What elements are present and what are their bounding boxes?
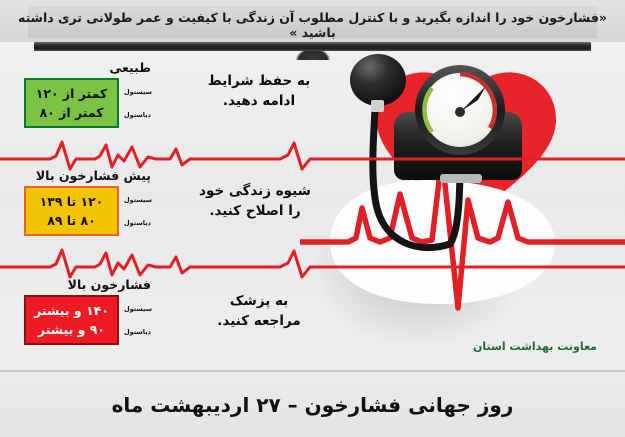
device-base-plate bbox=[440, 174, 482, 183]
advice-hypertension: به پزشک مراجعه کنید. bbox=[189, 292, 329, 331]
category-hypertension-box: ۱۴۰ و بیشتر ۹۰ و بیشتر bbox=[24, 295, 119, 345]
category-hypertension-diastolic-value: ۹۰ و بیشتر bbox=[26, 320, 117, 339]
bulb-neck bbox=[371, 100, 384, 112]
advice-normal-line2: ادامه دهید. bbox=[189, 92, 329, 112]
advice-normal: به حفظ شرایط ادامه دهید. bbox=[189, 72, 329, 111]
category-hypertension-title: فشارخون بالا bbox=[68, 277, 151, 292]
category-normal-systolic-label: سیستول bbox=[121, 88, 159, 96]
artwork-illustration bbox=[300, 52, 625, 352]
category-prehypertension-diastolic-value: ۸۰ تا ۸۹ bbox=[26, 211, 117, 230]
category-prehypertension-diastolic-label: دیاستول bbox=[121, 219, 159, 227]
category-prehypertension-title: پیش فشارخون بالا bbox=[36, 168, 151, 183]
category-hypertension: فشارخون بالا ۱۴۰ و بیشتر ۹۰ و بیشتر سیست… bbox=[0, 277, 159, 355]
category-prehypertension-box: ۱۲۰ تا ۱۳۹ ۸۰ تا ۸۹ bbox=[24, 186, 119, 236]
gauge-hub bbox=[455, 107, 465, 117]
category-normal-title: طبیعی bbox=[109, 60, 151, 75]
header-slogan: «فشارخون خود را اندازه بگیرید و با کنترل… bbox=[0, 10, 625, 40]
category-prehypertension: پیش فشارخون بالا ۱۲۰ تا ۱۳۹ ۸۰ تا ۸۹ سیس… bbox=[0, 168, 159, 246]
inflation-bulb bbox=[350, 54, 406, 106]
footer-band: روز جهانی فشارخون – ۲۷ اردیبهشت ماه bbox=[0, 372, 625, 437]
category-hypertension-systolic-label: سیستول bbox=[121, 305, 159, 313]
advice-hypertension-line2: مراجعه کنید. bbox=[189, 312, 329, 332]
category-normal-systolic-value: کمتر از ۱۲۰ bbox=[26, 84, 117, 103]
category-normal: طبیعی کمتر از ۱۲۰ کمتر از ۸۰ سیستول دیاس… bbox=[0, 60, 159, 138]
advice-hypertension-line1: به پزشک bbox=[189, 292, 329, 312]
category-hypertension-diastolic-label: دیاستول bbox=[121, 328, 159, 336]
category-prehypertension-systolic-value: ۱۲۰ تا ۱۳۹ bbox=[26, 192, 117, 211]
category-normal-diastolic-label: دیاستول bbox=[121, 111, 159, 119]
advice-prehypertension-line1: شیوه زندگی خود bbox=[181, 182, 329, 202]
category-prehypertension-systolic-label: سیستول bbox=[121, 196, 159, 204]
category-normal-box: کمتر از ۱۲۰ کمتر از ۸۰ bbox=[24, 78, 119, 128]
infographic-poster: «فشارخون خود را اندازه بگیرید و با کنترل… bbox=[0, 0, 625, 437]
organization-credit: معاونت بهداشت استان bbox=[473, 340, 597, 353]
category-hypertension-systolic-value: ۱۴۰ و بیشتر bbox=[26, 301, 117, 320]
advice-prehypertension: شیوه زندگی خود را اصلاح کنید. bbox=[181, 182, 329, 221]
advice-prehypertension-line2: را اصلاح کنید. bbox=[181, 202, 329, 222]
advice-normal-line1: به حفظ شرایط bbox=[189, 72, 329, 92]
category-normal-diastolic-value: کمتر از ۸۰ bbox=[26, 103, 117, 122]
footer-title: روز جهانی فشارخون – ۲۷ اردیبهشت ماه bbox=[112, 393, 514, 417]
header-divider-bar bbox=[34, 42, 591, 51]
